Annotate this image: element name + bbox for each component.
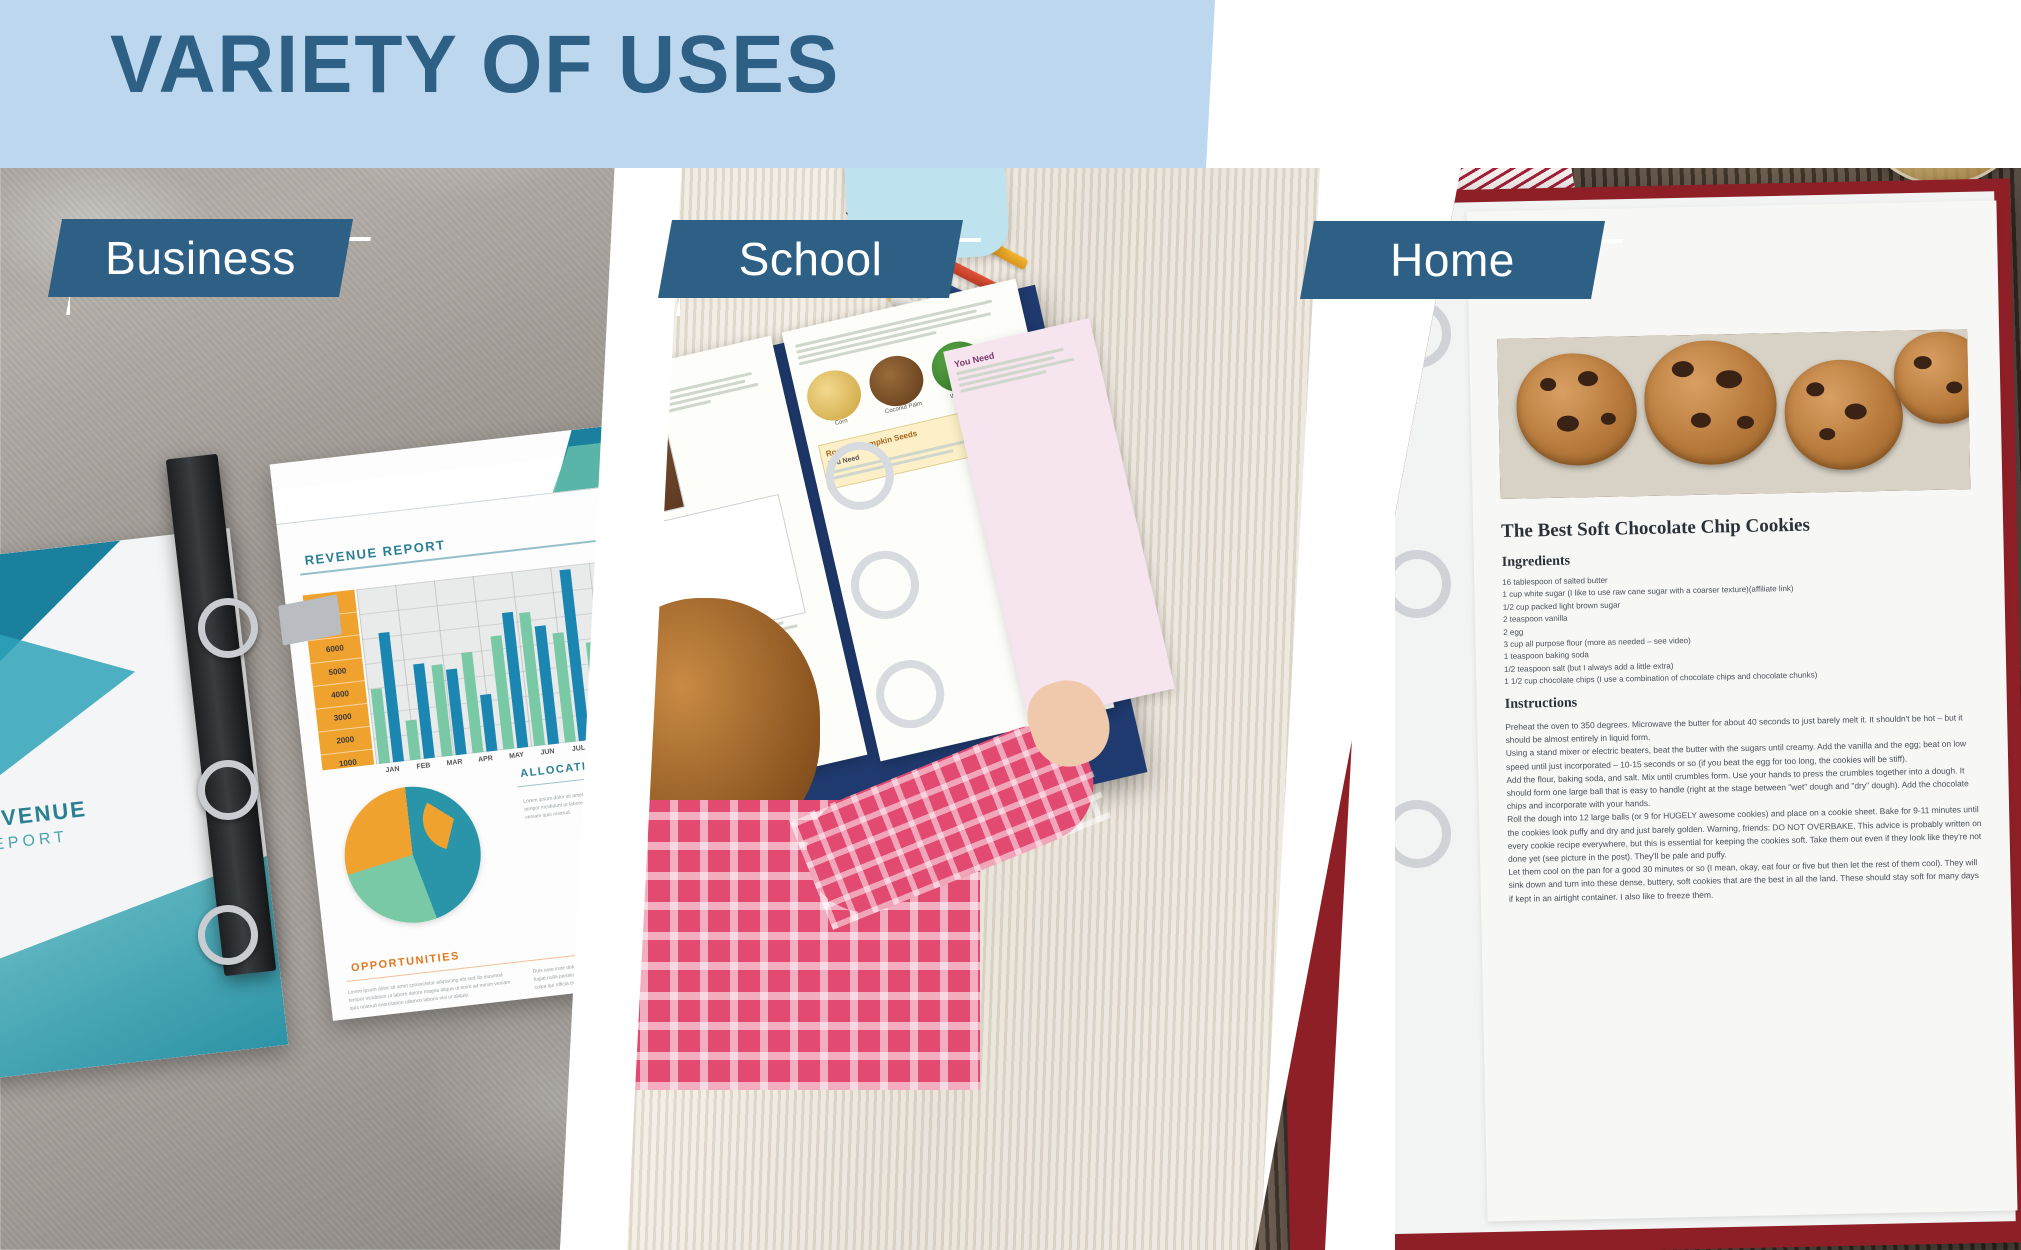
tab-home[interactable]: Home	[1300, 221, 1605, 299]
slide-canvas: REVENUE REPORT REVENUE REPORT 8000700060…	[0, 0, 2021, 1250]
bar	[406, 720, 421, 761]
page-title: VARIETY OF USES	[110, 22, 840, 108]
ingredients-list: 16 tablespoon of salted butter1 cup whit…	[1502, 567, 1980, 689]
x-tick: MAR	[439, 758, 471, 768]
instructions-list: Preheat the oven to 350 degrees. Microwa…	[1505, 711, 1985, 906]
instructions-heading: Instructions	[1505, 695, 1578, 713]
tab-business-label: Business	[105, 231, 296, 285]
ingredients-heading: Ingredients	[1502, 554, 1571, 571]
x-tick: JUN	[532, 747, 564, 757]
chart-title: REVENUE REPORT	[304, 537, 446, 568]
x-tick: JAN	[377, 765, 409, 775]
cookie-photo	[1497, 329, 1970, 499]
y-tick: 1000	[321, 750, 375, 779]
recipe-document: The Best Soft Chocolate Chip Cookies Ing…	[1466, 201, 2017, 1222]
panel-business: REVENUE REPORT REVENUE REPORT 8000700060…	[0, 0, 660, 1250]
x-tick: FEB	[408, 761, 440, 771]
business-photo: REVENUE REPORT REVENUE REPORT 8000700060…	[0, 0, 660, 1250]
tab-school[interactable]: School	[658, 220, 963, 298]
recipe-title: The Best Soft Chocolate Chip Cookies	[1501, 515, 1810, 543]
tab-business[interactable]: Business	[48, 219, 353, 297]
pie-chart	[337, 778, 503, 944]
cover-subtitle: REPORT	[0, 828, 69, 856]
x-tick: APR	[470, 754, 502, 764]
x-tick: MAY	[501, 751, 533, 761]
tab-school-label: School	[739, 232, 883, 286]
drinking-glass	[1855, 10, 2021, 186]
cover-title: REVENUE	[0, 796, 88, 835]
tab-home-label: Home	[1390, 233, 1515, 287]
header-banner: VARIETY OF USES	[0, 0, 1215, 168]
